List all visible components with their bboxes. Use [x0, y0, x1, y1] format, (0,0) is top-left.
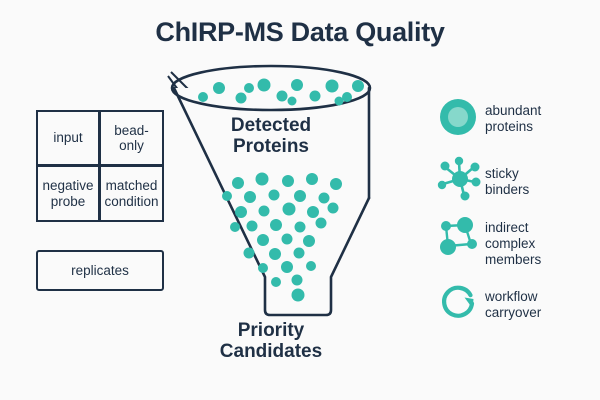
condition-cell-input[interactable]: input	[36, 110, 100, 166]
replicates-label: replicates	[71, 263, 129, 278]
legend-label-abundant-proteins-line2: proteins	[485, 119, 597, 135]
condition-cell-negative-probe-line1: negative	[42, 178, 93, 193]
legend-label-workflow-carryover: workflow carryover	[485, 289, 597, 321]
legend-item-indirect-complex-members[interactable]: indirect complex members	[437, 218, 597, 276]
condition-cell-bead-only[interactable]: bead- only	[99, 110, 164, 166]
protein-dots-top	[198, 79, 364, 106]
funnel-outline	[172, 66, 370, 316]
condition-cell-matched-condition-line2: condition	[104, 194, 158, 209]
replicates-box[interactable]: replicates	[36, 250, 164, 291]
legend-label-sticky-binders: sticky binders	[485, 166, 597, 198]
legend-label-indirect-complex-members-line3: members	[485, 252, 597, 268]
condition-cell-matched-condition[interactable]: matched condition	[99, 165, 164, 222]
protein-dots-stem	[292, 289, 305, 302]
legend-label-workflow-carryover-line1: workflow	[485, 289, 597, 305]
page-title: ChIRP-MS Data Quality	[0, 17, 600, 48]
condition-cell-bead-only-line1: bead-	[114, 123, 149, 138]
funnel-bottom-label-line2: Candidates	[191, 341, 351, 362]
condition-cell-input-label: input	[53, 130, 82, 145]
legend-item-workflow-carryover[interactable]: workflow carryover	[437, 283, 597, 329]
filled-circle-icon	[437, 95, 481, 139]
legend-label-indirect-complex-members: indirect complex members	[485, 220, 597, 268]
legend-label-abundant-proteins-line1: abundant	[485, 103, 597, 119]
protein-dots-body	[222, 173, 342, 288]
condition-cell-negative-probe-line2: probe	[51, 194, 86, 209]
condition-cell-negative-probe[interactable]: negative probe	[36, 165, 100, 222]
legend-label-indirect-complex-members-line1: indirect	[485, 220, 597, 236]
connector-lines	[168, 72, 196, 106]
legend-label-abundant-proteins: abundant proteins	[485, 103, 597, 135]
funnel-top-label-line2: Proteins	[191, 136, 351, 157]
condition-cell-bead-only-line2: only	[119, 138, 144, 153]
legend-label-sticky-binders-line2: binders	[485, 182, 597, 198]
funnel-top-label-line1: Detected	[191, 115, 351, 136]
legend-label-sticky-binders-line1: sticky	[485, 166, 597, 182]
legend-item-sticky-binders[interactable]: sticky binders	[437, 158, 597, 204]
condition-cell-matched-condition-line1: matched	[106, 178, 158, 193]
legend-label-indirect-complex-members-line2: complex	[485, 236, 597, 252]
funnel-top-label: Detected Proteins	[191, 115, 351, 158]
funnel-bottom-label: Priority Candidates	[191, 320, 351, 363]
legend-label-workflow-carryover-line2: carryover	[485, 305, 597, 321]
funnel-bottom-label-line1: Priority	[191, 320, 351, 341]
infographic-canvas: ChIRP-MS Data Quality	[0, 0, 600, 400]
legend-item-abundant-proteins[interactable]: abundant proteins	[437, 95, 597, 141]
